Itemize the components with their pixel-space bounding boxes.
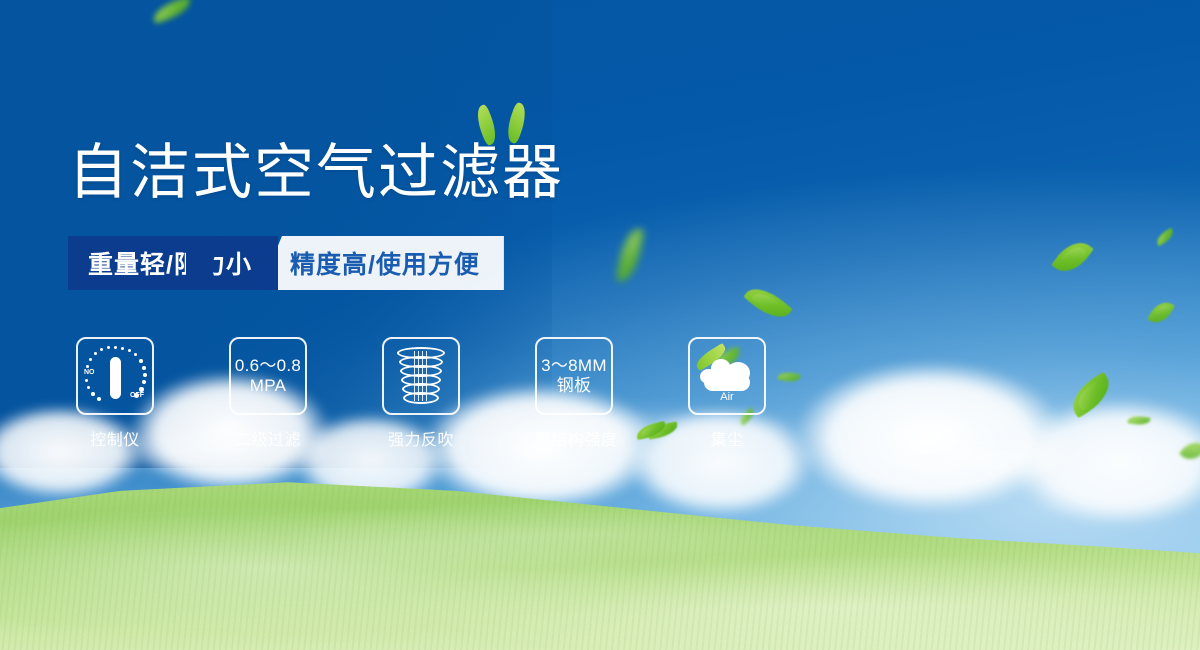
feature-label: 集尘 — [688, 426, 766, 450]
banner-stage: 自洁式空气过滤器 重量轻/阻力小 精度高/使用方便 — [0, 0, 1200, 650]
feature-item-steel-strength[interactable]: 3～8MM 钢板 钢结构强度 — [535, 337, 613, 450]
coil-filter-icon — [396, 347, 446, 405]
feature-item-backblow[interactable]: 强力反吹 — [382, 337, 460, 450]
feature-icon-box — [382, 337, 460, 415]
feature-item-control-meter[interactable]: NO OFF 控制仪 — [76, 337, 154, 450]
feature-label: 二级过滤 — [229, 426, 307, 450]
gauge-off-label: OFF — [130, 392, 144, 399]
feature-icon-box: 0.6～0.8 MPA — [229, 337, 307, 415]
feature-icon-box: Air — [688, 337, 766, 415]
feature-icon-box: NO OFF — [76, 337, 154, 415]
pressure-text-icon: 0.6～0.8 — [235, 356, 301, 376]
title-block: 自洁式空气过滤器 — [68, 143, 564, 203]
subtitle-right-badge: 精度高/使用方便 — [260, 236, 504, 290]
leaf-sprout-icon — [473, 101, 543, 149]
feature-label: 强力反吹 — [382, 426, 460, 450]
subtitle-bar: 重量轻/阻力小 精度高/使用方便 — [68, 236, 504, 290]
gauge-indicator-bar — [110, 357, 121, 399]
page-title: 自洁式空气过滤器 — [68, 143, 564, 203]
pressure-unit-text: MPA — [250, 376, 286, 396]
banner-content: 自洁式空气过滤器 重量轻/阻力小 精度高/使用方便 — [0, 0, 1200, 650]
steel-plate-text: 钢板 — [557, 376, 592, 396]
feature-row: NO OFF 控制仪 0.6～0.8 MPA 二级过滤 — [76, 337, 766, 450]
subtitle-left-badge: 重量轻/阻力小 — [68, 236, 278, 290]
feature-label: 控制仪 — [76, 426, 154, 450]
air-cloud-icon: Air — [698, 353, 756, 399]
feature-label: 钢结构强度 — [535, 426, 613, 450]
feature-icon-box: 3～8MM 钢板 — [535, 337, 613, 415]
gauge-no-label: NO — [84, 369, 95, 376]
gauge-dial-icon: NO OFF — [84, 345, 146, 407]
feature-item-two-stage-filter[interactable]: 0.6～0.8 MPA 二级过滤 — [229, 337, 307, 450]
steel-text-icon: 3～8MM — [541, 356, 607, 376]
feature-item-dust-collection[interactable]: Air 集尘 — [688, 337, 766, 450]
air-label: Air — [698, 391, 756, 403]
